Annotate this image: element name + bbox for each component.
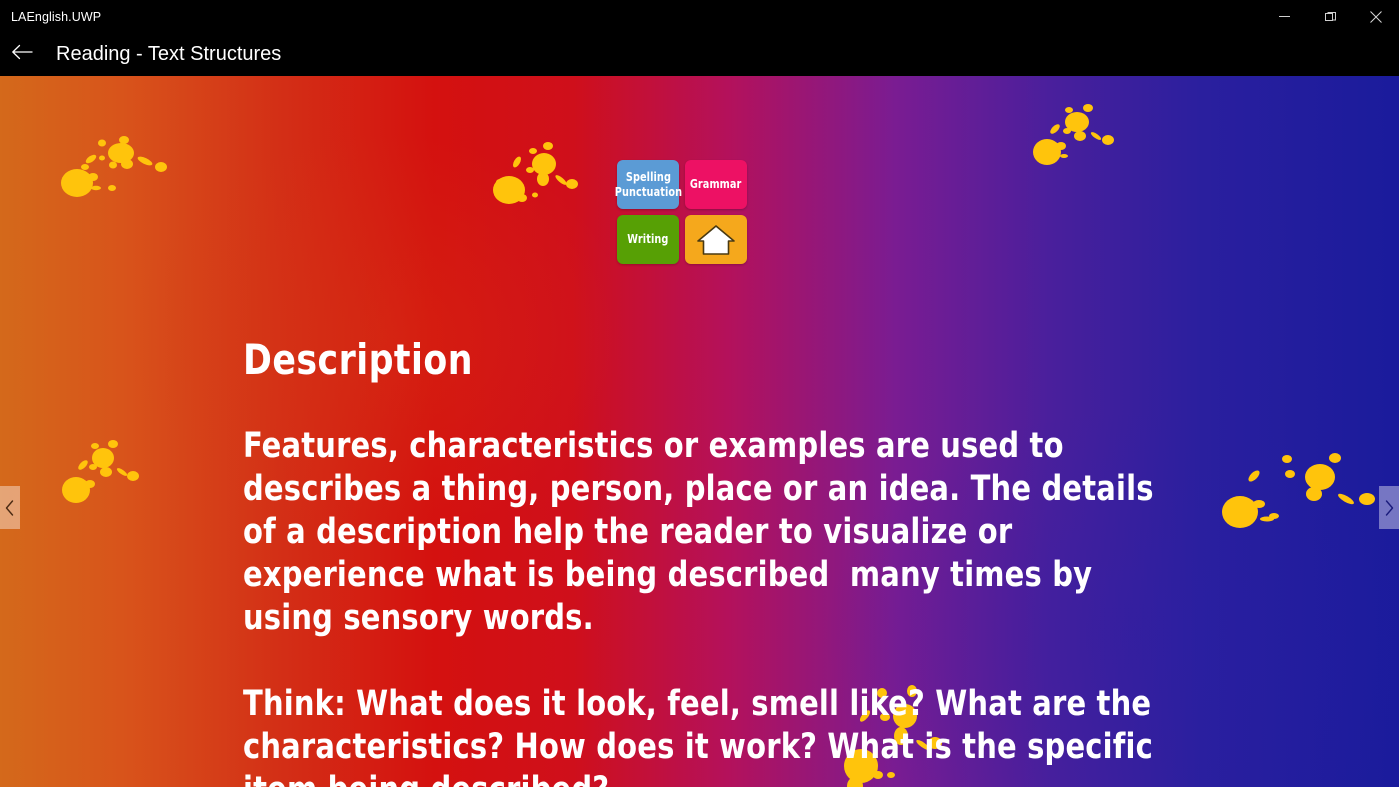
paint-splatter-decoration: [1030, 94, 1130, 169]
spelling-punctuation-button[interactable]: Spelling Punctuation: [617, 160, 679, 209]
lesson-heading: Description: [243, 338, 1163, 382]
minimize-icon: [1279, 11, 1290, 22]
next-slide-button[interactable]: [1379, 486, 1399, 529]
chevron-left-icon: [5, 500, 15, 516]
restore-icon: [1325, 11, 1336, 22]
home-icon: [695, 223, 737, 257]
lesson-paragraph-think: Think: What does it look, feel, smell li…: [243, 683, 1163, 787]
lesson-stage: Spelling Punctuation Grammar Writing Des…: [0, 76, 1399, 787]
grammar-button[interactable]: Grammar: [685, 160, 747, 209]
window-controls: [1261, 0, 1399, 33]
back-arrow-icon: [11, 44, 33, 65]
app-name-label: LAEnglish.UWP: [11, 10, 101, 24]
back-button[interactable]: [0, 33, 44, 76]
paint-splatter-decoration: [487, 94, 587, 214]
application-window: LAEnglish.UWP: [0, 0, 1399, 787]
title-bar: LAEnglish.UWP: [0, 0, 1399, 33]
paint-splatter-decoration: [55, 131, 185, 206]
lesson-content: Description Features, characteristics or…: [243, 338, 1243, 787]
page-title: Reading - Text Structures: [56, 43, 281, 66]
minimize-button[interactable]: [1261, 0, 1307, 33]
previous-slide-button[interactable]: [0, 486, 20, 529]
close-icon: [1370, 11, 1382, 23]
category-menu: Spelling Punctuation Grammar Writing: [617, 160, 747, 264]
lesson-paragraph-definition: Features, characteristics or examples ar…: [243, 425, 1163, 640]
writing-button[interactable]: Writing: [617, 215, 679, 264]
spelling-punctuation-label: Spelling Punctuation: [614, 170, 681, 199]
grammar-label: Grammar: [690, 177, 742, 192]
restore-button[interactable]: [1307, 0, 1353, 33]
close-button[interactable]: [1353, 0, 1399, 33]
paint-splatter-decoration: [58, 432, 158, 507]
home-button[interactable]: [685, 215, 747, 264]
writing-label: Writing: [627, 232, 668, 247]
chevron-right-icon: [1384, 500, 1394, 516]
page-header: Reading - Text Structures: [0, 33, 1399, 76]
